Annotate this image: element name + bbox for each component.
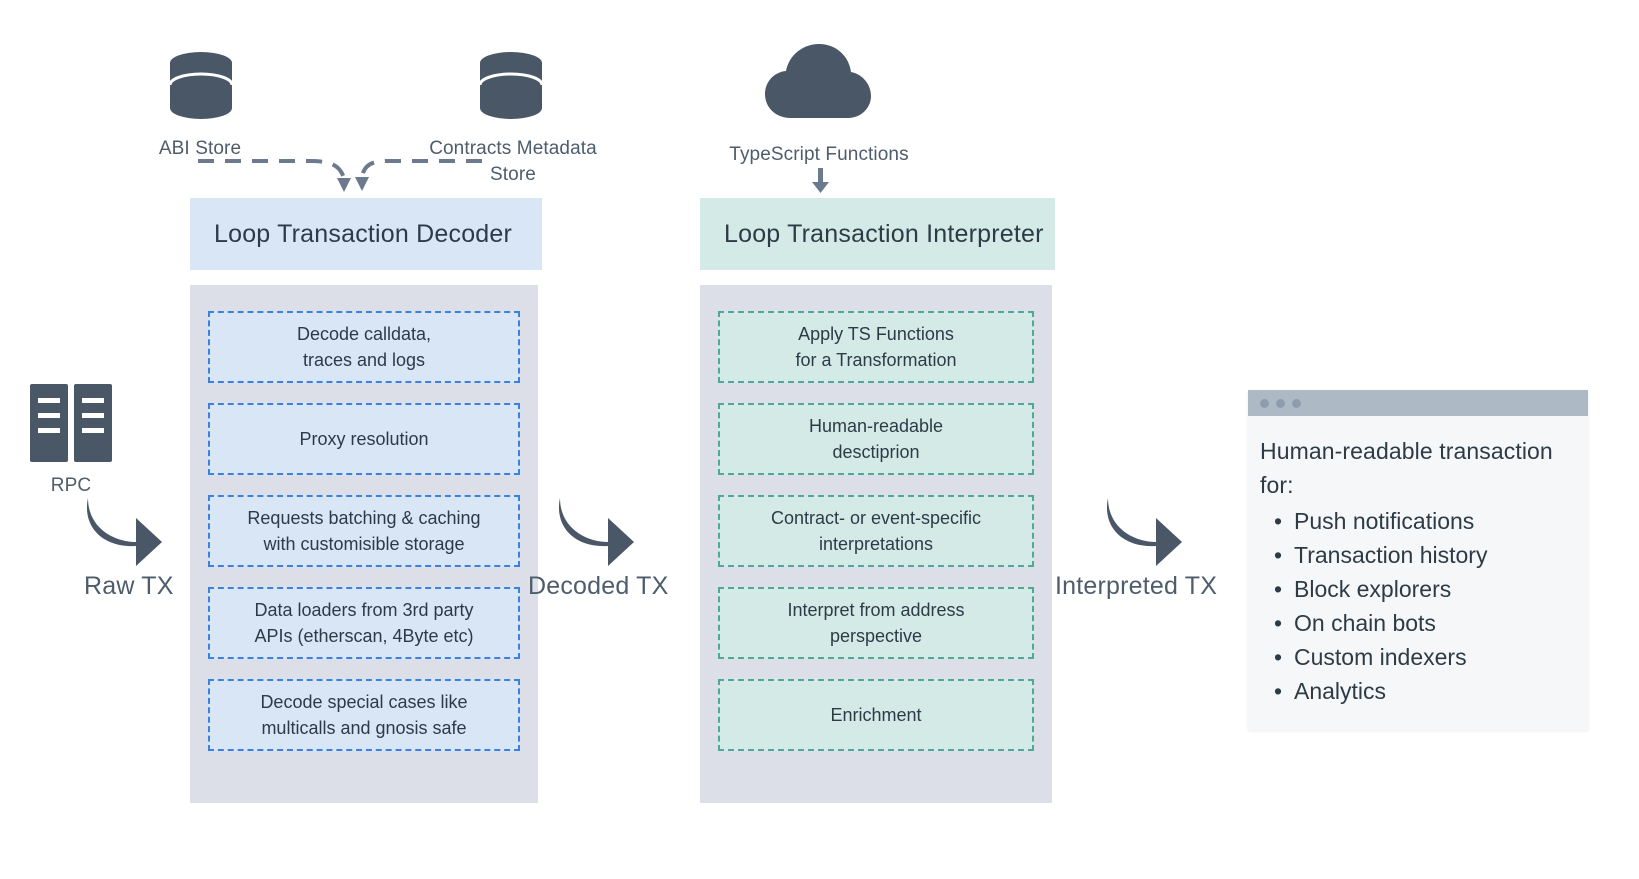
database-icon (478, 50, 544, 126)
store-to-decoder-connectors (180, 150, 500, 195)
typescript-functions-label: TypeScript Functions (708, 142, 930, 168)
typescript-to-interpreter-arrow (808, 168, 832, 194)
contracts-metadata-store-node (478, 50, 544, 131)
database-icon (168, 50, 234, 126)
list-item: Push notifications (1260, 504, 1572, 538)
interpreted-tx-arrow-icon (1100, 492, 1186, 566)
decoded-tx-arrow-icon (552, 492, 638, 566)
diagram-canvas: ABI Store Contracts Metadata Store TypeS… (0, 0, 1639, 879)
interpreter-step: Enrichment (718, 679, 1034, 751)
window-titlebar (1248, 390, 1588, 416)
decoder-step: Requests batching & cachingwith customis… (208, 495, 520, 567)
abi-store-node (168, 50, 234, 131)
window-close-dot-icon[interactable] (1260, 399, 1269, 408)
interpreter-step: Interpret from addressperspective (718, 587, 1034, 659)
output-use-case-list: Push notifications Transaction history B… (1260, 504, 1572, 708)
cloud-icon (763, 42, 873, 122)
raw-tx-arrow-icon (80, 492, 166, 566)
rpc-node (28, 382, 114, 469)
list-item: Block explorers (1260, 572, 1572, 606)
decoder-step: Proxy resolution (208, 403, 520, 475)
list-item: Custom indexers (1260, 640, 1572, 674)
output-window: Human-readable transaction for: Push not… (1248, 390, 1588, 730)
typescript-functions-node (763, 42, 873, 127)
decoder-step: Decode calldata,traces and logs (208, 311, 520, 383)
interpreter-step: Apply TS Functionsfor a Transformation (718, 311, 1034, 383)
decoder-step: Decode special cases likemulticalls and … (208, 679, 520, 751)
decoder-step: Data loaders from 3rd partyAPIs (ethersc… (208, 587, 520, 659)
output-title: Human-readable transaction for: (1260, 434, 1572, 502)
decoded-tx-label: Decoded TX (528, 572, 669, 601)
interpreter-title: Loop Transaction Interpreter (724, 220, 1044, 249)
window-content: Human-readable transaction for: Push not… (1248, 416, 1588, 730)
decoder-title: Loop Transaction Decoder (214, 220, 512, 249)
interpreted-tx-label: Interpreted TX (1055, 572, 1217, 601)
window-minimize-dot-icon[interactable] (1276, 399, 1285, 408)
list-item: Transaction history (1260, 538, 1572, 572)
server-icon (28, 382, 114, 464)
list-item: Analytics (1260, 674, 1572, 708)
raw-tx-label: Raw TX (84, 572, 174, 601)
decoder-header: Loop Transaction Decoder (190, 198, 542, 270)
interpreter-step: Contract- or event-specificinterpretatio… (718, 495, 1034, 567)
decoder-steps-container: Decode calldata,traces and logs Proxy re… (190, 285, 538, 803)
interpreter-steps-container: Apply TS Functionsfor a Transformation H… (700, 285, 1052, 803)
interpreter-step: Human-readabledesctiprion (718, 403, 1034, 475)
interpreter-header: Loop Transaction Interpreter (700, 198, 1055, 270)
window-maximize-dot-icon[interactable] (1292, 399, 1301, 408)
list-item: On chain bots (1260, 606, 1572, 640)
